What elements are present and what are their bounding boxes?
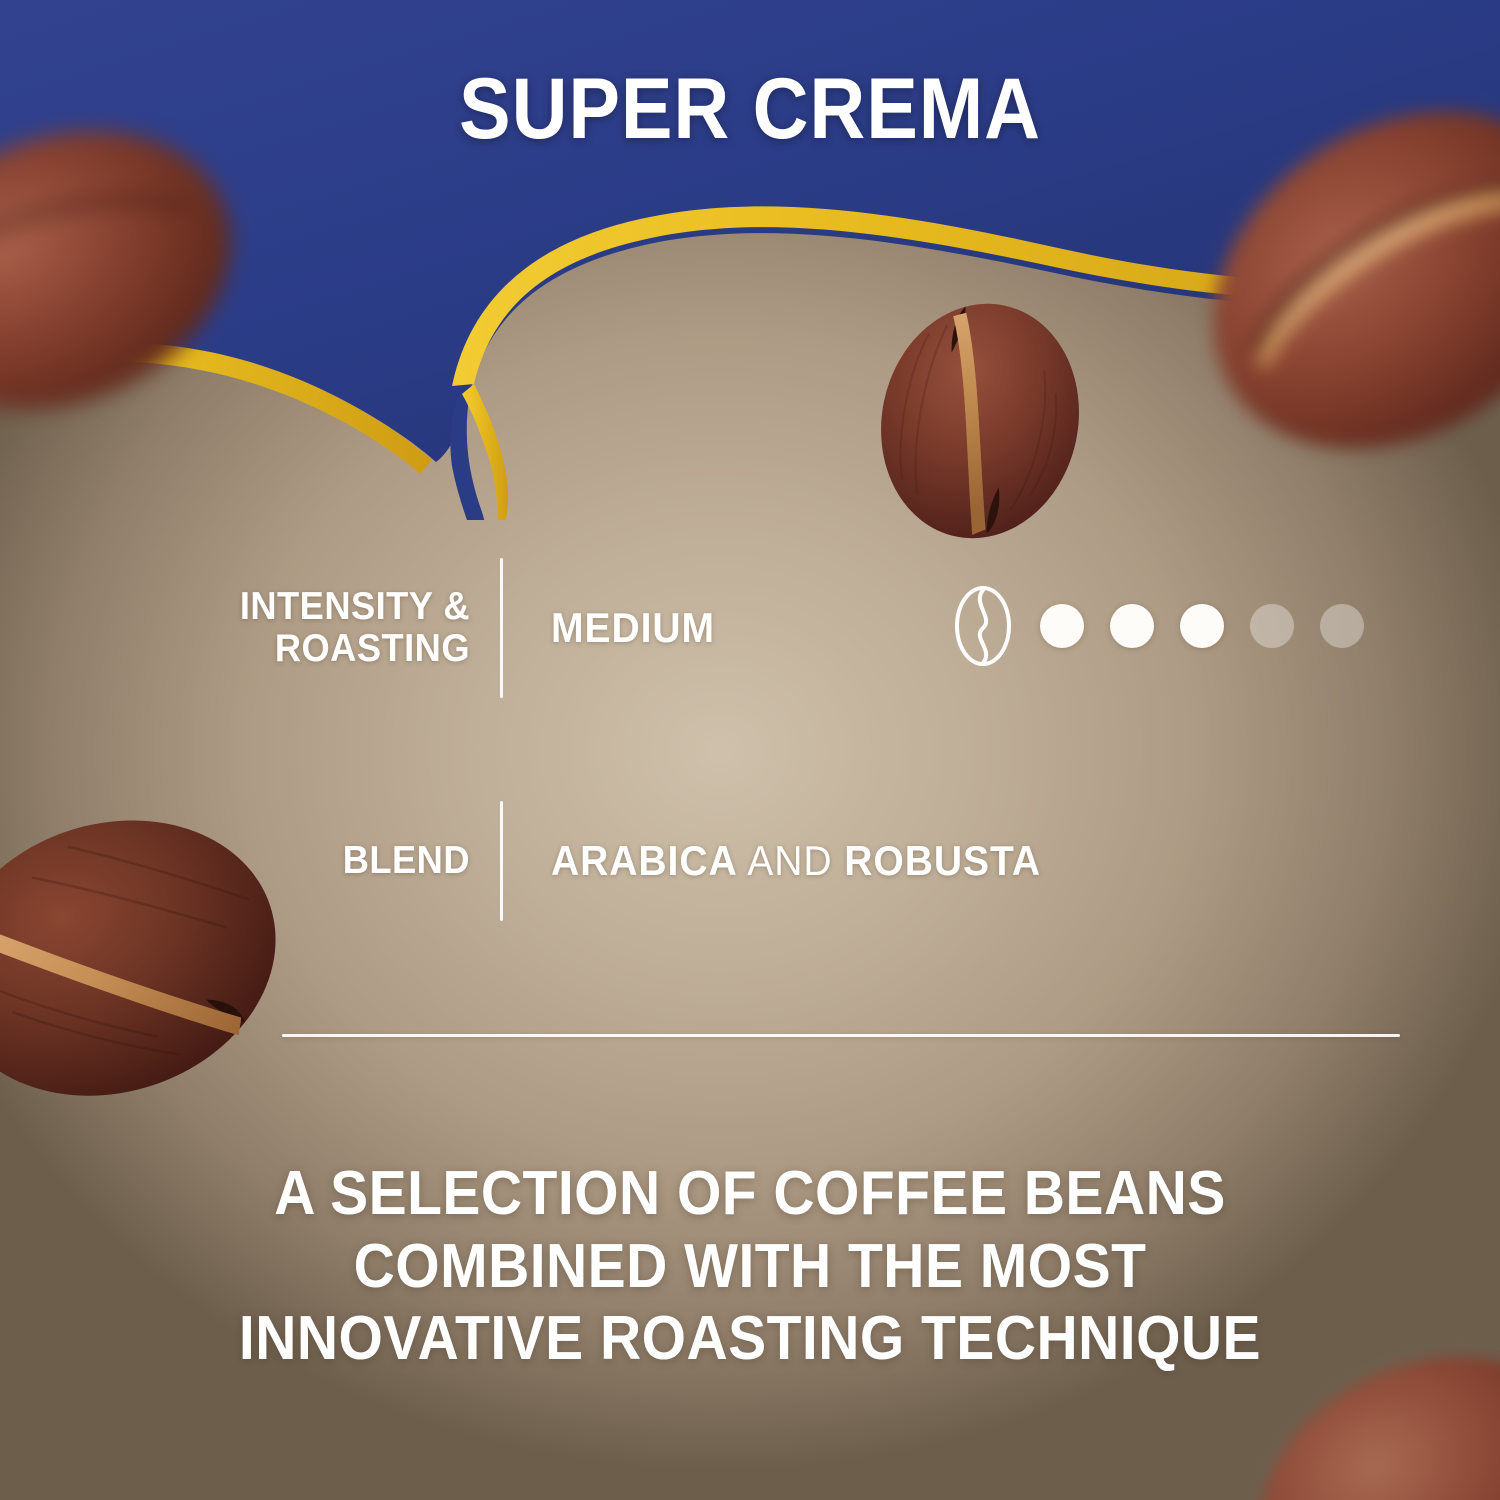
tagline-line-1: A SELECTION OF COFFEE BEANS	[60, 1158, 1440, 1231]
blend-conjunction: AND	[738, 837, 845, 884]
intensity-dot-3	[1180, 604, 1224, 648]
tagline-line-3: INNOVATIVE ROASTING TECHNIQUE	[60, 1303, 1440, 1376]
spec-label-intensity-roasting: INTENSITY & ROASTING	[135, 586, 470, 670]
blend-robusta: ROBUSTA	[844, 837, 1041, 884]
spec-row-blend: BLEND ARABICA AND ROBUSTA	[110, 800, 1310, 922]
blend-arabica: ARABICA	[551, 837, 738, 884]
spec-value-blend: ARABICA AND ROBUSTA	[551, 837, 1041, 885]
spec-divider-vertical-blend	[500, 801, 503, 921]
intensity-meter	[952, 584, 1364, 668]
product-feature-image: SUPER CREMA INTENSITY & ROASTING MEDIUM	[0, 0, 1500, 1500]
intensity-dot-4	[1250, 604, 1294, 648]
section-divider	[282, 1034, 1400, 1037]
intensity-dot-1	[1040, 604, 1084, 648]
spec-row-intensity-roasting: INTENSITY & ROASTING MEDIUM	[110, 556, 810, 700]
spec-divider-vertical	[500, 558, 503, 698]
page-title: SUPER CREMA	[75, 66, 1425, 152]
tagline: A SELECTION OF COFFEE BEANS COMBINED WIT…	[60, 1158, 1440, 1376]
coffee-bean-outline-icon	[952, 584, 1014, 668]
intensity-dot-5	[1320, 604, 1364, 648]
intensity-dot-2	[1110, 604, 1154, 648]
spec-value-intensity: MEDIUM	[551, 604, 715, 652]
tagline-line-2: COMBINED WITH THE MOST	[60, 1231, 1440, 1304]
spec-label-blend: BLEND	[135, 840, 470, 882]
